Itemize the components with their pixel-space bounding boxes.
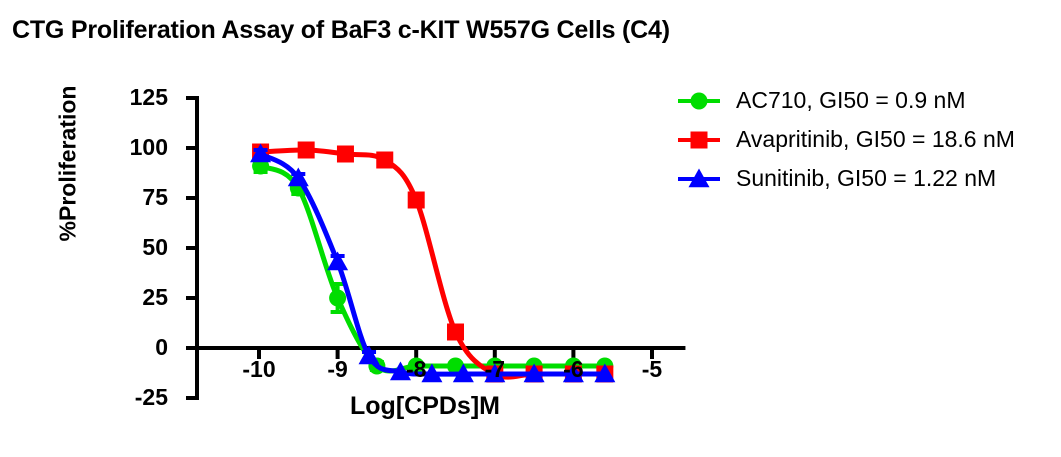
chart-legend: AC710, GI50 = 0.9 nMAvapritinib, GI50 = … [676, 84, 1056, 201]
x-axis-label: Log[CPDs]M [260, 392, 590, 421]
x-tick-label: -9 [327, 356, 347, 382]
fit-curve [261, 150, 605, 377]
x-tick-label: -6 [563, 356, 583, 382]
legend-item[interactable]: Avapritinib, GI50 = 18.6 nM [676, 123, 1056, 156]
x-tick-label: -5 [642, 356, 662, 382]
data-point-circle [691, 92, 708, 109]
legend-marker-triangle-icon [676, 167, 722, 191]
data-point-circle [329, 290, 346, 307]
fit-curve [261, 166, 605, 371]
data-point-square [447, 324, 464, 341]
y-tick-label: 0 [98, 336, 168, 359]
legend-marker-circle-icon [676, 89, 722, 113]
y-tick-label: 50 [98, 236, 168, 259]
y-tick-label: 125 [98, 86, 168, 109]
legend-label: AC710, GI50 = 0.9 nM [736, 87, 966, 114]
y-tick-label: 25 [98, 286, 168, 309]
x-tick-label: -7 [485, 356, 505, 382]
plot-area: -250255075100125 -10-9-8-7-6-5 %Prolifer… [0, 0, 700, 457]
axes [186, 98, 683, 398]
chart-figure: CTG Proliferation Assay of BaF3 c-KIT W5… [0, 0, 1061, 457]
legend-item[interactable]: AC710, GI50 = 0.9 nM [676, 84, 1056, 117]
data-point-square [408, 192, 425, 209]
x-tick-label: -10 [242, 356, 275, 382]
y-tick-label: -25 [98, 386, 168, 409]
data-point-triangle [327, 252, 348, 271]
y-tick-label: 100 [98, 136, 168, 159]
data-point-square [691, 131, 708, 148]
legend-label: Avapritinib, GI50 = 18.6 nM [736, 126, 1015, 153]
legend-label: Sunitinib, GI50 = 1.22 nM [736, 165, 996, 192]
data-point-square [298, 142, 315, 159]
legend-item[interactable]: Sunitinib, GI50 = 1.22 nM [676, 162, 1056, 195]
data-point-square [337, 146, 354, 163]
data-point-square [376, 152, 393, 169]
y-axis-label: %Proliferation [55, 34, 82, 294]
legend-marker-square-icon [676, 128, 722, 152]
x-tick-label: -8 [406, 356, 426, 382]
y-tick-label: 75 [98, 186, 168, 209]
